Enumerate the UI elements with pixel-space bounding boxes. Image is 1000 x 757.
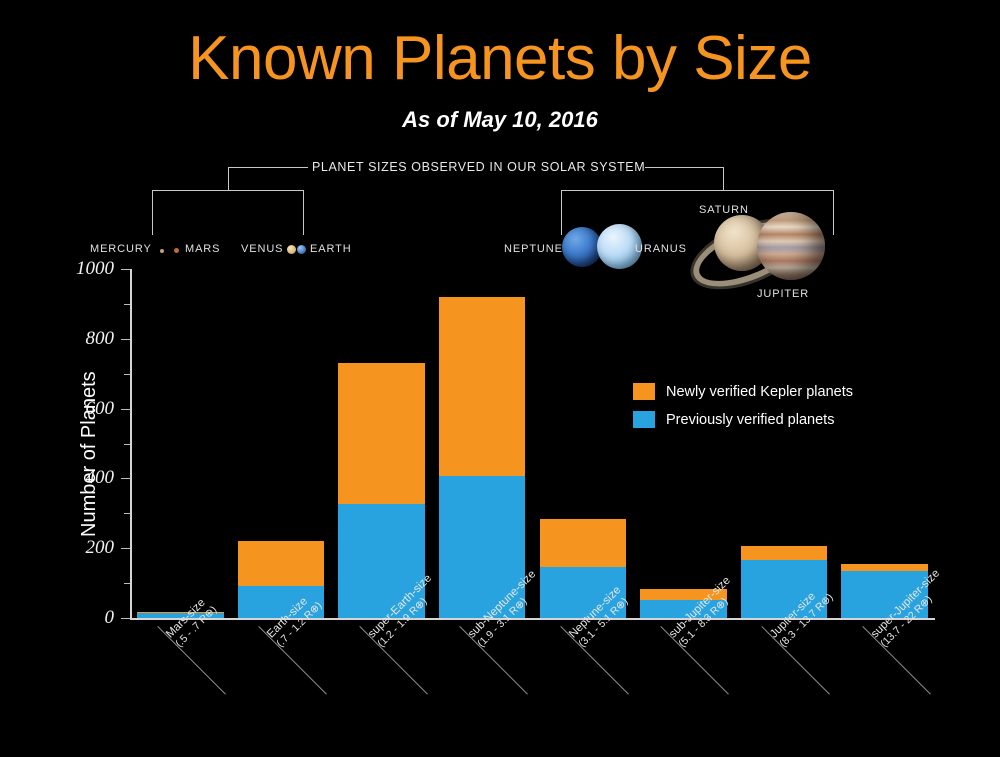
bar-segment-newly-verified bbox=[338, 363, 425, 504]
bracket-line bbox=[152, 190, 304, 191]
venus-dot bbox=[287, 245, 296, 254]
planet-label-mars: MARS bbox=[185, 243, 220, 255]
bar-segment-newly-verified bbox=[741, 546, 828, 560]
legend-swatch bbox=[633, 383, 655, 400]
mercury-dot bbox=[160, 249, 164, 253]
y-tick-major bbox=[121, 548, 130, 549]
neptune-sphere bbox=[562, 227, 602, 267]
bracket-line bbox=[833, 190, 834, 235]
y-tick-label: 1000 bbox=[52, 258, 114, 280]
planet-label-neptune: NEPTUNE bbox=[504, 243, 563, 255]
bracket-line bbox=[561, 190, 833, 191]
y-tick-label: 800 bbox=[52, 328, 114, 350]
y-tick-major bbox=[121, 269, 130, 270]
planet-label-earth: EARTH bbox=[310, 243, 352, 255]
y-tick-minor bbox=[124, 304, 130, 305]
y-tick-minor bbox=[124, 513, 130, 514]
y-tick-major bbox=[121, 618, 130, 619]
bracket-line bbox=[152, 190, 153, 235]
y-tick-major bbox=[121, 409, 130, 410]
chart-plot-area: 02004006008001000 bbox=[130, 269, 935, 619]
legend-swatch bbox=[633, 411, 655, 428]
planet-label-mercury: MERCURY bbox=[90, 243, 152, 255]
bar-segment-newly-verified bbox=[439, 297, 526, 476]
y-axis-title: Number of Planets bbox=[78, 371, 101, 537]
bracket-label: PLANET SIZES OBSERVED IN OUR SOLAR SYSTE… bbox=[312, 160, 645, 174]
y-tick-major bbox=[121, 478, 130, 479]
y-tick-label: 200 bbox=[52, 537, 114, 559]
bar-segment-newly-verified bbox=[540, 519, 627, 567]
bracket-line bbox=[228, 167, 229, 191]
bracket-line bbox=[228, 167, 308, 168]
chart-legend: Newly verified Kepler planetsPreviously … bbox=[633, 383, 853, 439]
bracket-line bbox=[723, 167, 724, 191]
page-subtitle: As of May 10, 2016 bbox=[0, 107, 1000, 133]
bar-segment-newly-verified bbox=[841, 564, 928, 571]
infographic-canvas: Known Planets by Size As of May 10, 2016… bbox=[0, 0, 1000, 757]
bracket-line bbox=[303, 190, 304, 235]
bar-sub-neptune-size[interactable] bbox=[439, 297, 526, 618]
mars-dot bbox=[174, 248, 179, 253]
bracket-line bbox=[645, 167, 723, 168]
x-axis-category-labels: Mars-size(.5 - .7 R⊕)Earth-size(.7 - 1.2… bbox=[130, 622, 935, 732]
y-tick-minor bbox=[124, 583, 130, 584]
planet-label-venus: VENUS bbox=[241, 243, 283, 255]
earth-dot bbox=[297, 245, 306, 254]
page-title: Known Planets by Size bbox=[0, 28, 1000, 90]
y-axis bbox=[130, 269, 132, 619]
planet-label-uranus: URANUS bbox=[635, 243, 687, 255]
legend-label: Newly verified Kepler planets bbox=[666, 384, 853, 400]
y-tick-label: 0 bbox=[52, 607, 114, 629]
bar-super-earth-size[interactable] bbox=[338, 363, 425, 618]
bar-segment-newly-verified bbox=[238, 541, 325, 586]
y-tick-minor bbox=[124, 374, 130, 375]
legend-item[interactable]: Previously verified planets bbox=[633, 411, 853, 428]
legend-label: Previously verified planets bbox=[666, 412, 834, 428]
y-tick-minor bbox=[124, 444, 130, 445]
legend-item[interactable]: Newly verified Kepler planets bbox=[633, 383, 853, 400]
bracket-line bbox=[561, 190, 562, 235]
y-tick-major bbox=[121, 339, 130, 340]
